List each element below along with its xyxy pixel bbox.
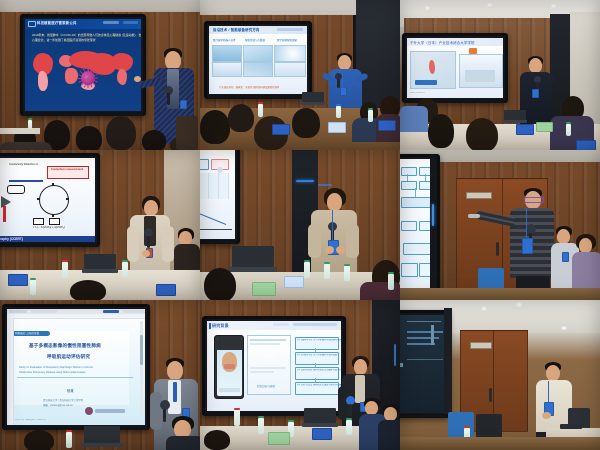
water-bottle bbox=[258, 104, 263, 117]
scrollbar-thumb[interactable] bbox=[140, 335, 143, 365]
table-nameplate bbox=[576, 140, 596, 150]
wall-display: 智能医疗工程研讨会 基于多模态影像的慢性阻塞性肺病 呼吸肌运动评估研究 Stud… bbox=[2, 304, 150, 430]
water-bottle bbox=[368, 110, 373, 122]
slide-footer-text: ...ance Tomography (CCERT) bbox=[0, 237, 23, 242]
wall-display: Conductivity Detection of ... Contactles… bbox=[0, 153, 100, 247]
photo-collage: 科技赋能医疗管策新公共 2019年末，新型肺炎（COVID-19）的出现导致人们… bbox=[0, 0, 600, 450]
door-handle[interactable] bbox=[496, 242, 499, 256]
glasses bbox=[524, 197, 544, 203]
laptop bbox=[84, 254, 116, 274]
table-nameplate bbox=[378, 120, 396, 131]
keyboard[interactable] bbox=[560, 424, 582, 429]
question-text-3: Q3【使用场景】哪些场景是关注最多的使用场景？ bbox=[297, 369, 341, 372]
table-nameplate bbox=[516, 124, 534, 135]
seated-attendee bbox=[168, 416, 200, 450]
water-bottle bbox=[122, 262, 128, 277]
question-text-1: Q1【整体评价】空气净化器对环境改善有效果？ bbox=[297, 339, 341, 342]
audience-row bbox=[0, 276, 200, 300]
collage-cell-8[interactable]: 研究背景 研究目标与路径 bbox=[200, 300, 400, 450]
laptop bbox=[302, 92, 324, 106]
slide-subtitle-en-2: Obstructive Pulmonary Disease using Mult… bbox=[19, 371, 86, 375]
slide-title-line-2: 呼吸肌运动评估研究 bbox=[47, 354, 90, 360]
water-bottle bbox=[234, 410, 240, 426]
slide-column-1-heading: 医疗康复机器人技术 bbox=[213, 39, 236, 43]
collage-cell-4[interactable]: Conductivity Detection of ... Contactles… bbox=[0, 150, 200, 300]
slide-header-text: 前沿技术 / 智能装备研究方向 bbox=[213, 27, 260, 32]
slide-footer-text: 研究目标与路径 bbox=[257, 385, 275, 389]
smartphone-mockup bbox=[214, 335, 244, 399]
slide-highlight-text: Contactless measurement bbox=[51, 168, 83, 172]
table-nameplate bbox=[328, 122, 346, 133]
floor bbox=[400, 437, 600, 450]
audience-row bbox=[0, 424, 160, 450]
presentation-slide: Conductivity Detection of ... Contactles… bbox=[0, 158, 95, 242]
name-badge bbox=[180, 100, 187, 109]
necktie bbox=[173, 382, 177, 402]
table-nameplate bbox=[284, 276, 304, 288]
water-bottle bbox=[336, 106, 341, 118]
table-nameplate bbox=[272, 124, 290, 135]
slide-header-text: 千叶大学（日本）产业技术综合大学学院 bbox=[410, 40, 475, 45]
collage-cell-3[interactable]: 千叶大学（日本）产业技术综合大学学院 2024 / SCHOOL bbox=[400, 0, 600, 150]
world-map-graphic bbox=[25, 19, 141, 111]
water-bottle bbox=[324, 264, 330, 279]
ceiling bbox=[0, 0, 200, 12]
presentation-slide bbox=[400, 315, 445, 413]
door-sign bbox=[466, 192, 492, 199]
wall-display bbox=[400, 310, 450, 418]
water-bottle bbox=[388, 274, 394, 290]
water-bottle bbox=[258, 418, 264, 434]
flowchart-node bbox=[401, 221, 417, 231]
slide-header-text: 研究背景 bbox=[212, 323, 229, 329]
water-bottle bbox=[66, 432, 72, 448]
wall-display: + ↔ − bbox=[200, 150, 240, 244]
flowchart-node bbox=[401, 167, 417, 176]
slide-formula-label: Shielding Error bbox=[61, 178, 75, 181]
table-nameplate bbox=[268, 432, 290, 445]
flowchart-node bbox=[403, 243, 433, 255]
slide-column-3-heading: 医学影像智能感知 bbox=[277, 39, 297, 43]
presentation-slide: 智能医疗工程研讨会 基于多模态影像的慢性阻塞性肺病 呼吸肌运动评估研究 Stud… bbox=[7, 309, 145, 425]
collage-cell-5[interactable]: + ↔ − bbox=[200, 150, 400, 300]
slide-subtitle-en-1: Study on Evaluation of Respiratory Diaph… bbox=[19, 366, 93, 370]
door-sign bbox=[470, 342, 492, 349]
table-nameplate bbox=[536, 122, 553, 132]
name-badge bbox=[522, 238, 533, 254]
wall-display: 研究背景 研究目标与路径 bbox=[202, 316, 346, 416]
presentation-slide: 研究背景 研究目标与路径 bbox=[207, 321, 341, 411]
water-bottle bbox=[304, 262, 310, 278]
floor bbox=[400, 288, 600, 300]
slide-presenter-name: 杨某 bbox=[67, 389, 74, 394]
presentation-slide: 前沿技术 / 智能装备研究方向 医疗康复机器人技术 智能传感与大数据 医学影像智… bbox=[209, 26, 307, 94]
collage-cell-7[interactable]: 智能医疗工程研讨会 基于多模态影像的慢性阻塞性肺病 呼吸肌运动评估研究 Stud… bbox=[0, 300, 200, 450]
collage-cell-9[interactable] bbox=[400, 300, 600, 450]
wall-display: 科技赋能医疗管策新公共 2019年末，新型肺炎（COVID-19）的出现导致人们… bbox=[20, 14, 146, 116]
water-bottle bbox=[346, 420, 352, 435]
presentation-slide: + ↔ − bbox=[200, 150, 235, 239]
electrode-ring-diagram bbox=[39, 185, 69, 215]
slide-contact: 邮箱：yscheng@xxx.edu.cn bbox=[43, 404, 73, 408]
water-bottle bbox=[566, 124, 571, 136]
chair bbox=[176, 116, 198, 150]
door-handle[interactable] bbox=[489, 388, 492, 402]
audience-row bbox=[400, 88, 600, 150]
table-nameplate bbox=[252, 282, 276, 296]
question-text-2: Q2【功能评价】空气净化器对呼吸有效果？ bbox=[297, 354, 339, 357]
collage-cell-1[interactable]: 科技赋能医疗管策新公共 2019年末，新型肺炎（COVID-19）的出现导致人们… bbox=[0, 0, 200, 150]
university-logo bbox=[85, 407, 93, 415]
conference-table bbox=[0, 128, 40, 134]
collage-cell-2[interactable]: 前沿技术 / 智能装备研究方向 医疗康复机器人技术 智能传感与大数据 医学影像智… bbox=[200, 0, 400, 150]
coronavirus-icon bbox=[81, 71, 95, 85]
collage-cell-6[interactable] bbox=[400, 150, 600, 300]
laser-pointer[interactable] bbox=[468, 214, 480, 218]
question-text-4: Q4【用户反馈】哪些相关关键参与者的评价最高？ bbox=[297, 384, 341, 387]
water-bottle bbox=[28, 120, 32, 129]
slide-title-line-1: 基于多模态影像的慢性阻塞性肺病 bbox=[29, 343, 101, 349]
slide-title-left: Conductivity Detection of ... bbox=[9, 163, 41, 167]
slide-affiliation: 青岛科技大学 / 青岛科技大学工程学院 bbox=[43, 399, 83, 403]
slide-column-2-heading: 智能传感与大数据 bbox=[245, 39, 265, 43]
presentation-slide: 科技赋能医疗管策新公共 2019年末，新型肺炎（COVID-19）的出现导致人们… bbox=[25, 19, 141, 111]
laptop bbox=[504, 110, 526, 124]
flowchart-node bbox=[401, 263, 418, 277]
water-bottle bbox=[344, 266, 350, 281]
seated-attendee bbox=[380, 404, 400, 450]
slide-header-text: 智能医疗工程研讨会 bbox=[15, 332, 39, 336]
laptop bbox=[84, 426, 120, 448]
table-nameplate bbox=[312, 428, 332, 440]
